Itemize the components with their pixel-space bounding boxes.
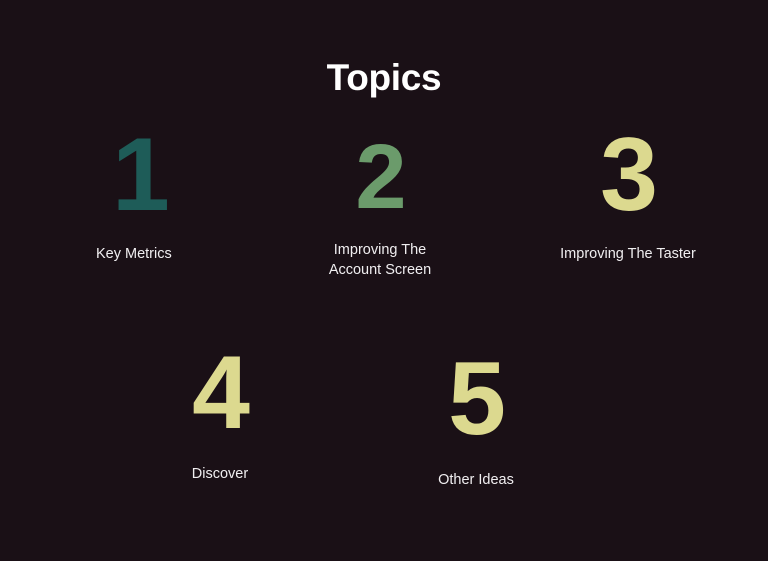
topic-number-2: 2	[300, 134, 460, 221]
topic-item-5[interactable]: 5 Other Ideas	[396, 350, 556, 490]
topic-number-3: 3	[530, 126, 726, 225]
topic-number-1: 1	[112, 126, 276, 225]
topic-label-4: Discover	[140, 465, 300, 484]
topic-label-1: Key Metrics	[96, 245, 276, 264]
topic-label-3: Improving The Taster	[530, 245, 726, 264]
topic-label-5: Other Ideas	[396, 471, 556, 490]
page-title: Topics	[0, 58, 768, 99]
topic-label-2-line2: Account Screen	[300, 261, 460, 280]
presentation-slide: Topics 1 Key Metrics 2 Improving The Acc…	[0, 0, 768, 561]
topic-number-5: 5	[396, 350, 556, 449]
topic-item-3[interactable]: 3 Improving The Taster	[530, 126, 726, 264]
topic-label-2: Improving The Account Screen	[300, 241, 460, 279]
topic-item-1[interactable]: 1 Key Metrics	[96, 126, 276, 264]
topic-number-4: 4	[140, 344, 300, 443]
topic-item-4[interactable]: 4 Discover	[140, 344, 300, 484]
topic-label-2-line1: Improving The	[300, 241, 460, 260]
topic-item-2[interactable]: 2 Improving The Account Screen	[300, 134, 460, 280]
